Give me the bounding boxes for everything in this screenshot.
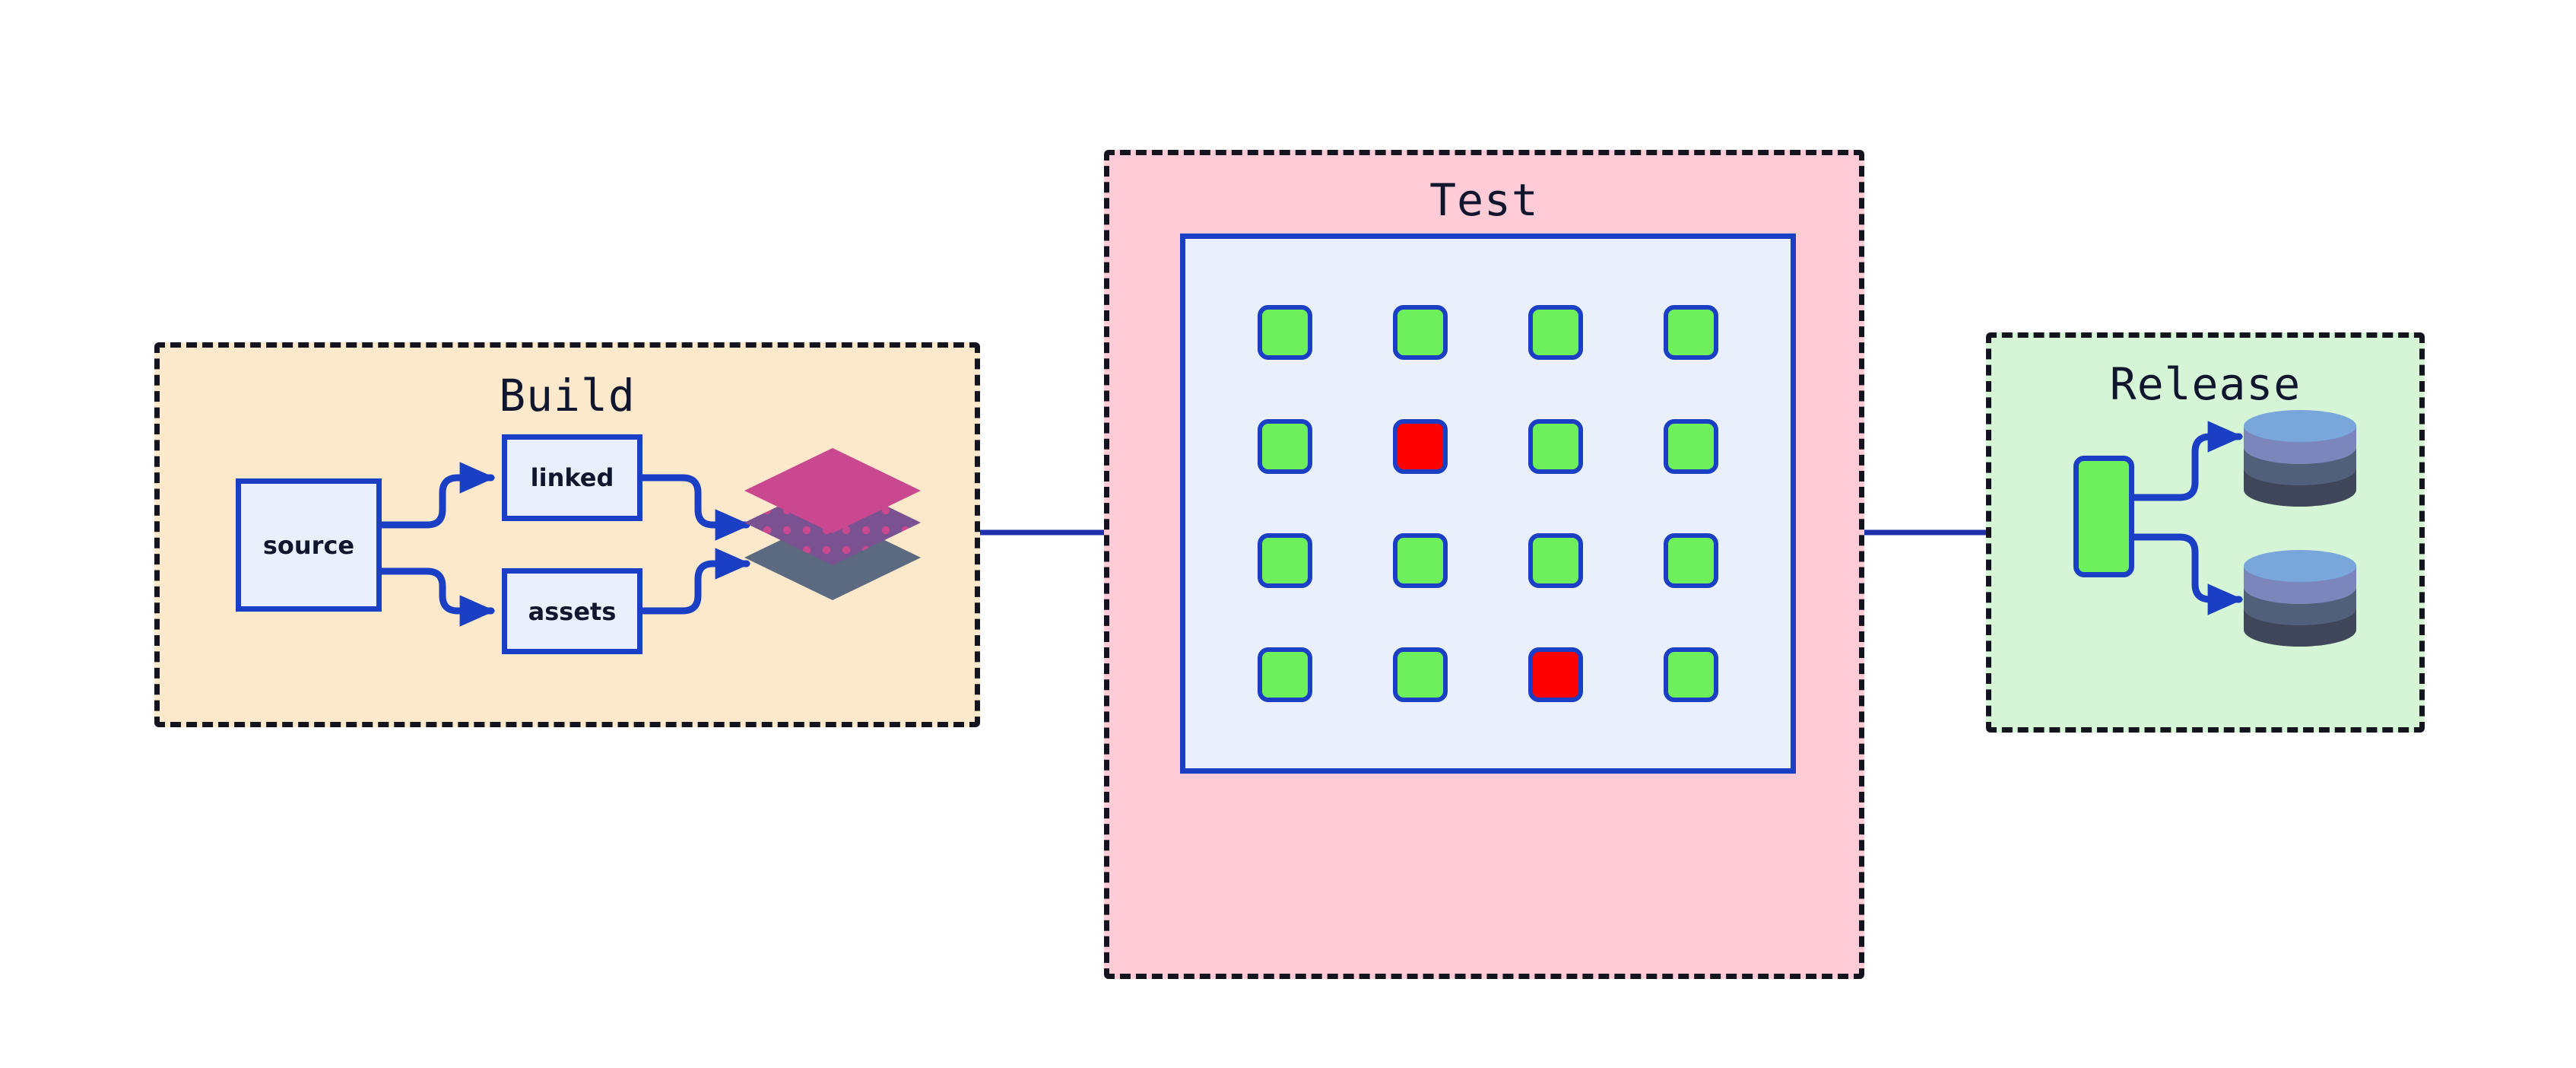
test-cell-r3c4[interactable] — [1664, 533, 1718, 588]
test-cell-r1c4[interactable] — [1664, 305, 1718, 360]
connector-source-assets — [382, 571, 491, 611]
test-cell-r4c2[interactable] — [1393, 647, 1448, 702]
stage-test[interactable]: Test — [1104, 150, 1864, 979]
test-results-grid[interactable] — [1180, 234, 1796, 774]
stage-release[interactable]: Release — [1986, 332, 2425, 733]
database-icon[interactable] — [2242, 409, 2358, 507]
test-cell-r1c3[interactable] — [1528, 305, 1583, 360]
database-icon[interactable] — [2242, 549, 2358, 647]
test-cell-r2c1[interactable] — [1258, 419, 1312, 474]
connector-linked-layers — [642, 478, 747, 525]
test-cell-r3c2[interactable] — [1393, 533, 1448, 588]
test-cell-r4c3[interactable] — [1528, 647, 1583, 702]
connector-block-db-top — [2134, 437, 2239, 497]
test-cell-r2c2[interactable] — [1393, 419, 1448, 474]
layers-stack-icon — [741, 445, 924, 612]
connector-block-db-bottom — [2134, 537, 2239, 599]
stage-test-title: Test — [1109, 178, 1859, 222]
test-cell-r4c1[interactable] — [1258, 647, 1312, 702]
connector-source-linked — [382, 478, 491, 525]
test-cell-r1c2[interactable] — [1393, 305, 1448, 360]
release-connectors — [1991, 338, 2430, 738]
test-cell-r3c3[interactable] — [1528, 533, 1583, 588]
test-cell-r2c4[interactable] — [1664, 419, 1718, 474]
test-cell-r3c1[interactable] — [1258, 533, 1312, 588]
test-cell-r2c3[interactable] — [1528, 419, 1583, 474]
connector-assets-layers — [642, 564, 747, 611]
test-cell-r4c4[interactable] — [1664, 647, 1718, 702]
test-cell-r1c1[interactable] — [1258, 305, 1312, 360]
